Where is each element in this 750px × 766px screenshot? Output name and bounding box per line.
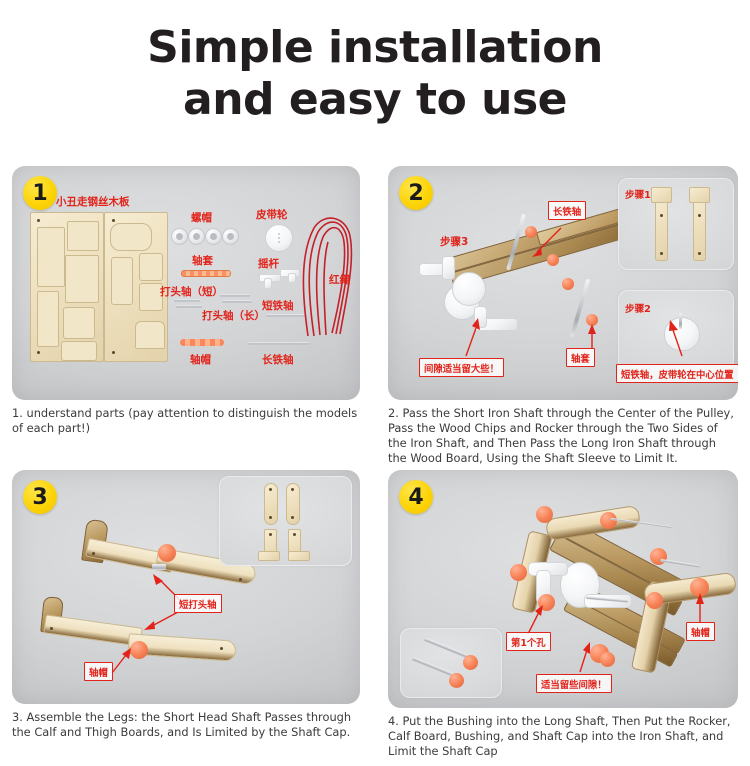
label-step1: 步骤1 (625, 187, 651, 201)
title-line-2: and easy to use (0, 74, 750, 126)
label-pulley-center: 短铁轴，皮带轮在中心位置 (616, 364, 738, 383)
nut-part-2 (188, 228, 205, 245)
shaft-cap-p4-9 (600, 652, 615, 667)
arrow-gap-warning (460, 314, 486, 358)
shaft-sleeve-lower-1 (562, 278, 574, 290)
pulley-part (265, 224, 293, 252)
label-shaft-cap: 轴帽 (190, 352, 211, 367)
arrow-shaft-cap-4 (692, 590, 708, 624)
label-long-iron-shaft: 长铁轴 (262, 352, 294, 367)
panel-3-badge: 3 (23, 480, 57, 514)
label-long-iron-shaft-2: 长铁轴 (548, 201, 586, 220)
label-short-head-shaft: 打头轴（短） (160, 284, 223, 299)
page-title: Simple installation and easy to use (0, 0, 750, 126)
long-iron-shaft (248, 342, 310, 345)
panel-1-badge: 1 (23, 176, 57, 210)
inset-leg-boards (219, 476, 352, 566)
panel-3-photo: 3 (12, 470, 360, 704)
pulley-assembly-inner (452, 272, 486, 306)
thigh-board-left (264, 483, 278, 525)
panel-3-caption: 3. Assemble the Legs: the Short Head Sha… (12, 710, 360, 740)
long-head-shaft-a (220, 294, 250, 297)
label-first-hole: 第1个孔 (506, 632, 551, 651)
nut-part-3 (205, 228, 222, 245)
rocker-board-left-head (651, 187, 672, 203)
panel-4-caption: 4. Put the Bushing into the Long Shaft, … (388, 714, 738, 759)
shaft-cap-p4-2 (600, 512, 617, 529)
thin-shaft-p4-2 (660, 559, 700, 568)
arrow-short-head-shaft-2 (140, 610, 180, 634)
arrow-shaft-sleeve (584, 322, 600, 350)
wood-sheet-left (30, 212, 104, 362)
bushing-cap-1 (463, 655, 478, 670)
rocker-upper-arm (442, 256, 455, 280)
panel-2-caption: 2. Pass the Short Iron Shaft through the… (388, 406, 738, 467)
label-red-rope: 红绳 (329, 272, 350, 287)
arrow-gap-warning-4 (572, 640, 594, 674)
shaft-cap-strip (180, 339, 224, 346)
label-rocker: 摇杆 (258, 256, 279, 271)
shaft-cap-p4-6 (646, 592, 663, 609)
label-shaft-sleeve-2: 轴套 (566, 348, 595, 367)
arrow-pulley-center (666, 318, 690, 358)
thigh-board-right (286, 483, 300, 525)
short-head-shaft-upper (152, 564, 166, 570)
nut-part-1 (171, 228, 188, 245)
calf-board-right-foot (288, 551, 310, 561)
rocker-part-b (264, 278, 272, 289)
rocker-part-d (288, 273, 296, 283)
bushing-cap-2 (449, 673, 464, 688)
panel-2: 2 (388, 166, 738, 467)
inset-bushings (400, 628, 502, 698)
label-shaft-cap-4: 轴帽 (686, 622, 715, 641)
inset-step1: 步骤1 (618, 178, 734, 270)
panel-1: 1 (12, 166, 360, 436)
label-gap-warning-4: 适当留些间隙！ (536, 674, 612, 693)
panel-2-photo: 2 (388, 166, 738, 400)
short-head-shaft-a (174, 299, 200, 302)
bushing-shaft-1 (424, 638, 468, 659)
label-gap-warning-2: 间隙适当留大些！ (419, 358, 504, 377)
calf-board-left-foot (258, 551, 280, 561)
panel-2-badge: 2 (399, 176, 433, 210)
nut-part-4 (222, 228, 239, 245)
wood-sheet-right (104, 212, 168, 362)
panel-4: 4 (388, 470, 738, 759)
long-head-shaft-b (222, 300, 252, 303)
label-board: 小丑走钢丝木板 (56, 194, 130, 209)
arrow-first-hole (524, 602, 546, 636)
panel-4-badge: 4 (399, 480, 433, 514)
short-head-shaft-b (176, 305, 202, 308)
shaft-cap-p4-3 (510, 564, 527, 581)
shaft-cap-upper (158, 544, 176, 562)
label-short-head-shaft-3: 短打头轴 (174, 594, 222, 613)
shaft-cap-p4-1 (536, 506, 553, 523)
label-short-iron-shaft: 短铁轴 (262, 298, 294, 313)
label-sleeve: 轴套 (192, 253, 213, 268)
shaft-sleeve-strip (181, 270, 231, 277)
bushing-shaft-2 (412, 657, 454, 677)
rocker-board-right-head (689, 187, 710, 203)
instruction-grid: 1 (0, 166, 750, 766)
label-nut: 螺帽 (191, 210, 212, 225)
title-line-1: Simple installation (147, 22, 603, 73)
panel-1-caption: 1. understand parts (pay attention to di… (12, 406, 360, 436)
label-step3: 步骤3 (440, 234, 468, 249)
panel-1-photo: 1 (12, 166, 360, 400)
panel-3: 3 (12, 470, 360, 740)
arrow-long-iron-shaft (528, 226, 564, 258)
panel-4-photo: 4 (388, 470, 738, 708)
label-step2: 步骤2 (625, 301, 651, 315)
label-long-head-shaft: 打头轴（长） (202, 308, 265, 323)
label-shaft-cap-3: 轴帽 (84, 662, 113, 681)
label-pulley: 皮带轮 (256, 207, 288, 222)
